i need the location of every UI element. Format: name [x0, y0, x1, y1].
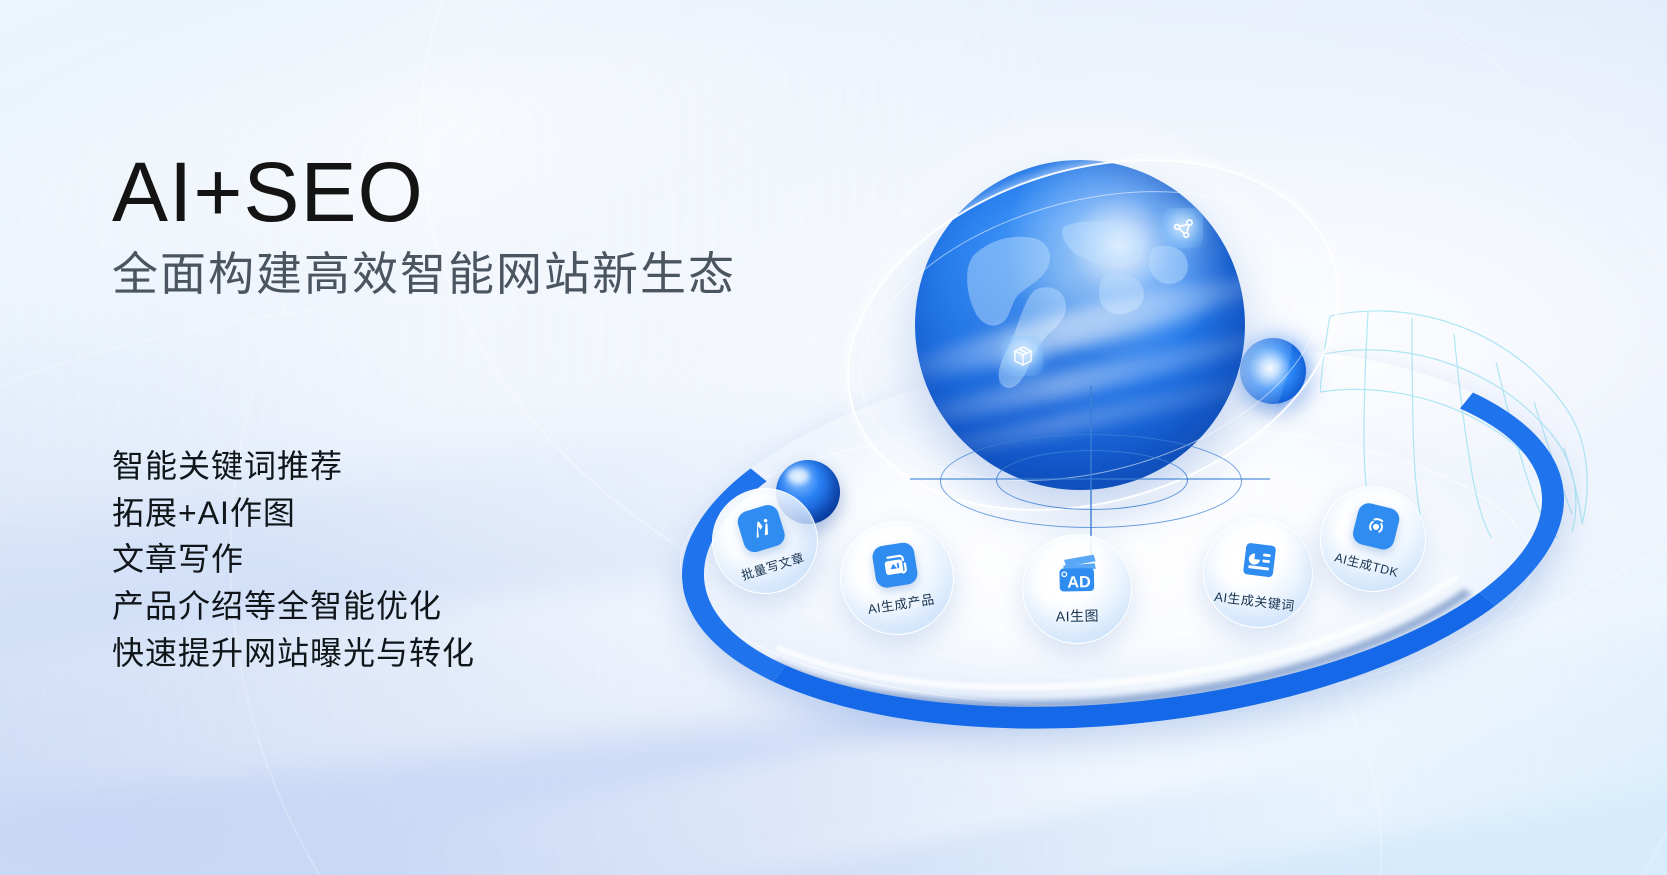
base-crosshair-horizontal [910, 478, 1270, 480]
svg-text:AD: AD [1067, 573, 1091, 591]
orbit-knob-left-highlight [787, 468, 809, 484]
ai-product-icon [871, 541, 919, 589]
bubble-label: AI生成TDK [1333, 546, 1401, 580]
network-node-icon [1163, 208, 1203, 248]
feature-item: 快速提升网站曝光与转化 [112, 630, 712, 677]
tdk-target-icon [1351, 500, 1402, 551]
keyword-doc-icon [1234, 534, 1285, 585]
bubble-label: AI生成产品 [866, 588, 935, 617]
bubble-label: AI生图 [1056, 606, 1100, 627]
base-ellipse-inner [996, 450, 1188, 510]
feature-item: 产品介绍等全智能优化 [112, 583, 712, 630]
ai-pen-icon [735, 502, 787, 554]
base-crosshair-vertical [1090, 386, 1092, 556]
feature-item: 智能关键词推荐 [112, 443, 712, 490]
feature-item: 文章写作 [112, 536, 712, 583]
ad-card-icon: AD [1050, 552, 1103, 599]
feature-list: 智能关键词推荐 拓展+AI作图 文章写作 产品介绍等全智能优化 快速提升网站曝光… [112, 443, 712, 677]
hero-banner: AI+SEO 全面构建高效智能网站新生态 智能关键词推荐 拓展+AI作图 文章写… [0, 0, 1667, 875]
base-plate [940, 420, 1240, 530]
cube-box-icon [1003, 336, 1043, 376]
bubble-label: AI生成关键词 [1213, 585, 1296, 614]
globe-scene [640, 120, 1620, 760]
feature-item: 拓展+AI作图 [112, 490, 712, 537]
bubble-label: 批量写文章 [738, 546, 806, 583]
